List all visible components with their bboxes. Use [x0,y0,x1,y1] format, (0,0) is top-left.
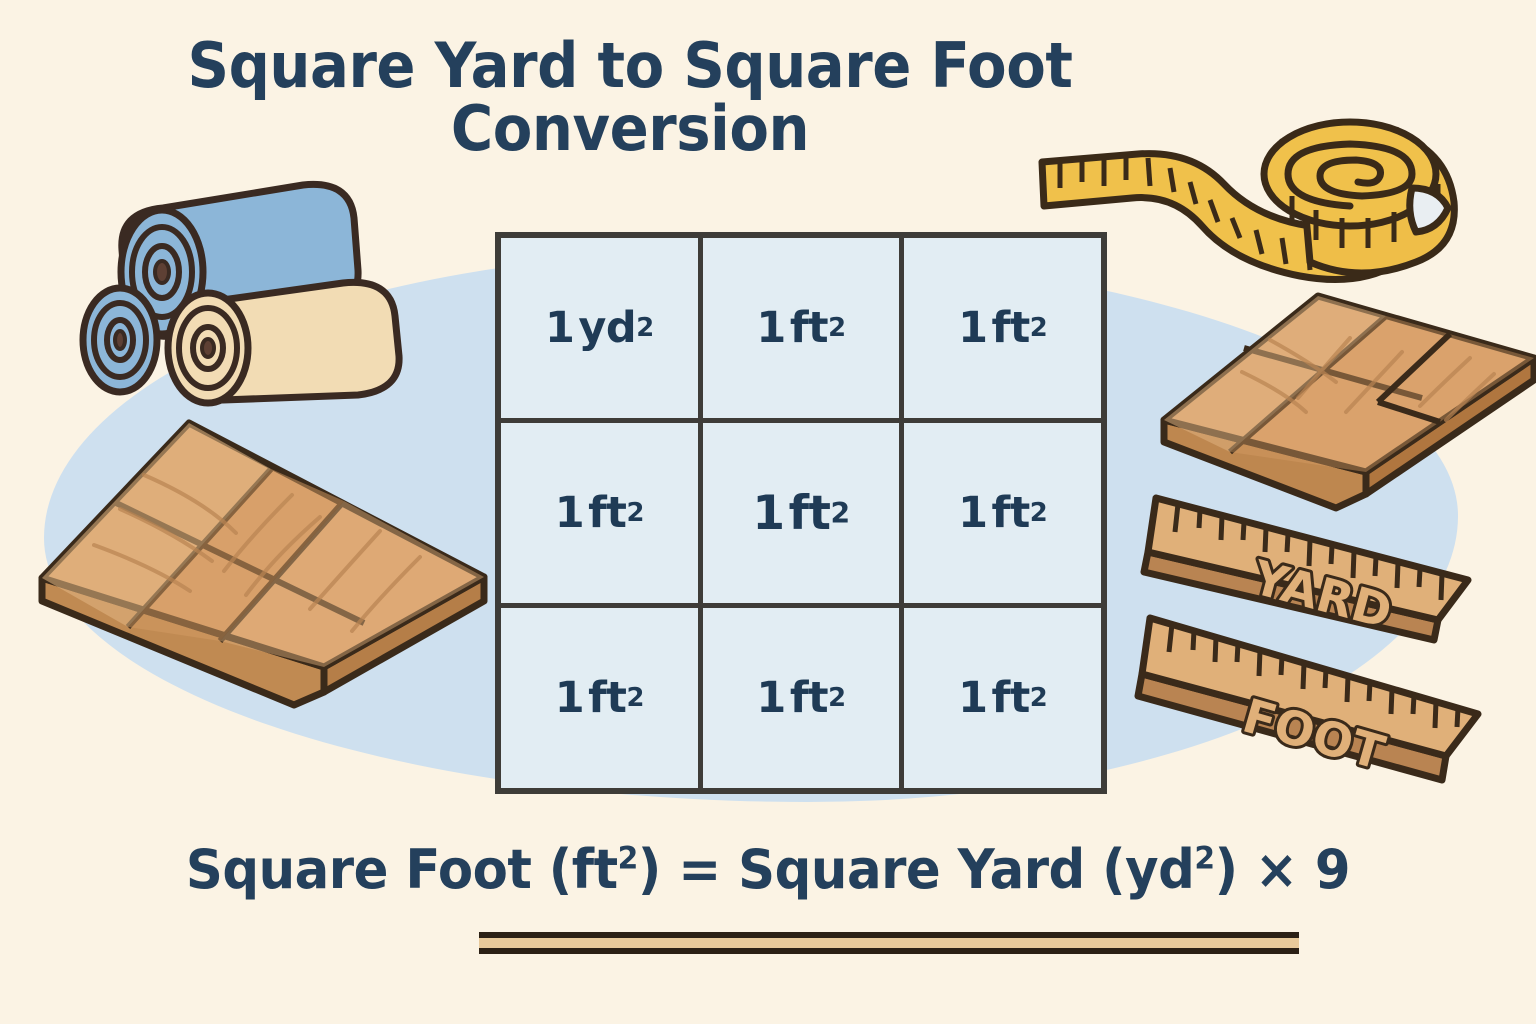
cell-unit: ft [790,303,828,353]
grid-cell-6: 1ft2 [904,423,1101,603]
cell-unit: yd [578,303,636,353]
grid-cell-1: 1yd2 [501,238,698,418]
conversion-grid: 1yd21ft21ft21ft21ft21ft21ft21ft21ft2 [495,232,1107,794]
cell-unit: ft [588,673,626,723]
cell-number: 1 [958,488,987,538]
carpet-rolls-illustration [58,150,438,400]
infographic-canvas: Square Yard to Square Foot Conversion [0,0,1536,1024]
cell-number: 1 [555,673,584,723]
decorative-wood-bar [479,932,1299,954]
cell-unit: ft [789,486,831,541]
grid-cell-5: 1ft2 [703,423,900,603]
equation-lhs-close: ) [638,838,661,901]
equation-rhs-exponent: 2 [1194,841,1214,877]
cell-exponent: 2 [828,313,845,343]
cell-exponent: 2 [1030,313,1047,343]
cell-exponent: 2 [830,497,849,530]
cell-unit: ft [790,673,828,723]
conversion-equation: Square Foot (ft2) = Square Yard (yd2) × … [38,838,1497,901]
grid-cell-7: 1ft2 [501,608,698,788]
grid-cell-2: 1ft2 [703,238,900,418]
cell-number: 1 [756,673,785,723]
cell-number: 1 [756,303,785,353]
cell-unit: ft [992,673,1030,723]
cell-exponent: 2 [1030,683,1047,713]
equation-factor: 9 [1315,838,1350,901]
ruler-foot: FOOT [1130,604,1536,794]
cell-exponent: 2 [626,498,643,528]
grid-cell-8: 1ft2 [703,608,900,788]
grid-cell-4: 1ft2 [501,423,698,603]
wood-floor-panel-right [1150,286,1536,516]
equation-operator: = [678,838,721,901]
wood-floor-panel-left [24,405,504,715]
cell-exponent: 2 [828,683,845,713]
cell-number: 1 [752,486,784,541]
equation-multiply-sign: × [1255,838,1298,901]
grid-cell-9: 1ft2 [904,608,1101,788]
grid-cell-3: 1ft2 [904,238,1101,418]
cell-exponent: 2 [626,683,643,713]
cell-exponent: 2 [1030,498,1047,528]
equation-lhs: Square Foot (ft [186,838,618,901]
title-line-1: Square Yard to Square Foot [44,34,1216,97]
cell-unit: ft [992,488,1030,538]
cell-unit: ft [588,488,626,538]
cell-unit: ft [992,303,1030,353]
cell-exponent: 2 [636,313,653,343]
equation-lhs-exponent: 2 [618,841,638,877]
cell-number: 1 [545,303,574,353]
cell-number: 1 [958,303,987,353]
equation-rhs-close: ) [1215,838,1238,901]
cell-number: 1 [958,673,987,723]
equation-rhs: Square Yard (yd [738,838,1194,901]
cell-number: 1 [555,488,584,538]
